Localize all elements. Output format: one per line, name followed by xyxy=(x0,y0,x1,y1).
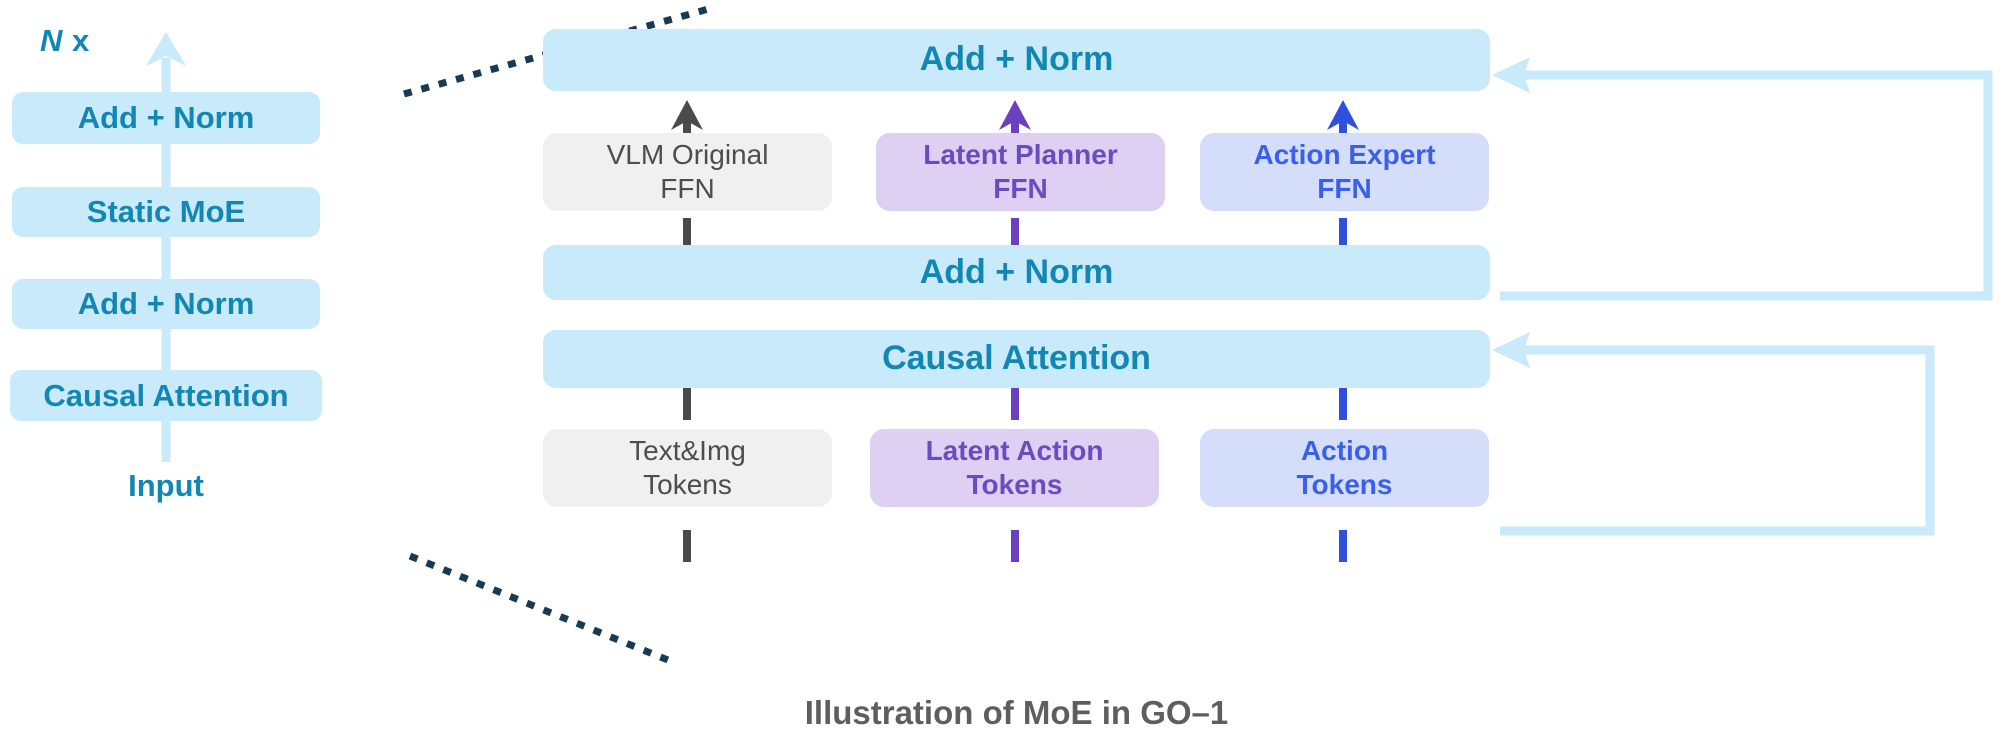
repeat-count-label: N x xyxy=(40,23,90,59)
left-block-static-moe[interactable]: Static MoE xyxy=(12,187,320,237)
expert-vlm-original-ffn[interactable]: VLM Original FFN xyxy=(543,133,832,211)
figure-caption: Illustration of MoE in GO–1 xyxy=(543,694,1490,732)
right-block-causal-attention[interactable]: Causal Attention xyxy=(543,330,1490,388)
lane-arrowhead-purple xyxy=(999,100,1031,130)
left-spine-arrowhead xyxy=(146,32,186,66)
lane-arrowhead-grey xyxy=(671,100,703,130)
expert-action-expert-ffn[interactable]: Action Expert FFN xyxy=(1200,133,1489,211)
repeat-count-x: x xyxy=(63,23,90,58)
repeat-count-n: N xyxy=(40,23,63,58)
lane-arrowhead-indigo xyxy=(1327,100,1359,130)
left-block-add-norm-bottom[interactable]: Add + Norm xyxy=(12,279,320,329)
left-block-add-norm-top[interactable]: Add + Norm xyxy=(12,92,320,144)
dotted-connector-bottom xyxy=(410,556,668,660)
token-action[interactable]: Action Tokens xyxy=(1200,429,1489,507)
token-latent-action[interactable]: Latent Action Tokens xyxy=(870,429,1159,507)
right-block-add-norm-mid[interactable]: Add + Norm xyxy=(543,245,1490,300)
token-text-img[interactable]: Text&Img Tokens xyxy=(543,429,832,507)
residual-connection-outer xyxy=(1500,75,1988,296)
residual-connection-inner xyxy=(1500,350,1930,531)
residual-arrowhead-outer xyxy=(1492,57,1530,93)
figure-canvas: N x Add + Norm Static MoE Add + Norm Cau… xyxy=(0,0,2014,748)
input-label: Input xyxy=(12,468,320,504)
expert-latent-planner-ffn[interactable]: Latent Planner FFN xyxy=(876,133,1165,211)
right-block-add-norm-top[interactable]: Add + Norm xyxy=(543,29,1490,91)
residual-arrowhead-inner xyxy=(1492,332,1530,368)
left-block-causal-attention[interactable]: Causal Attention xyxy=(10,370,322,421)
